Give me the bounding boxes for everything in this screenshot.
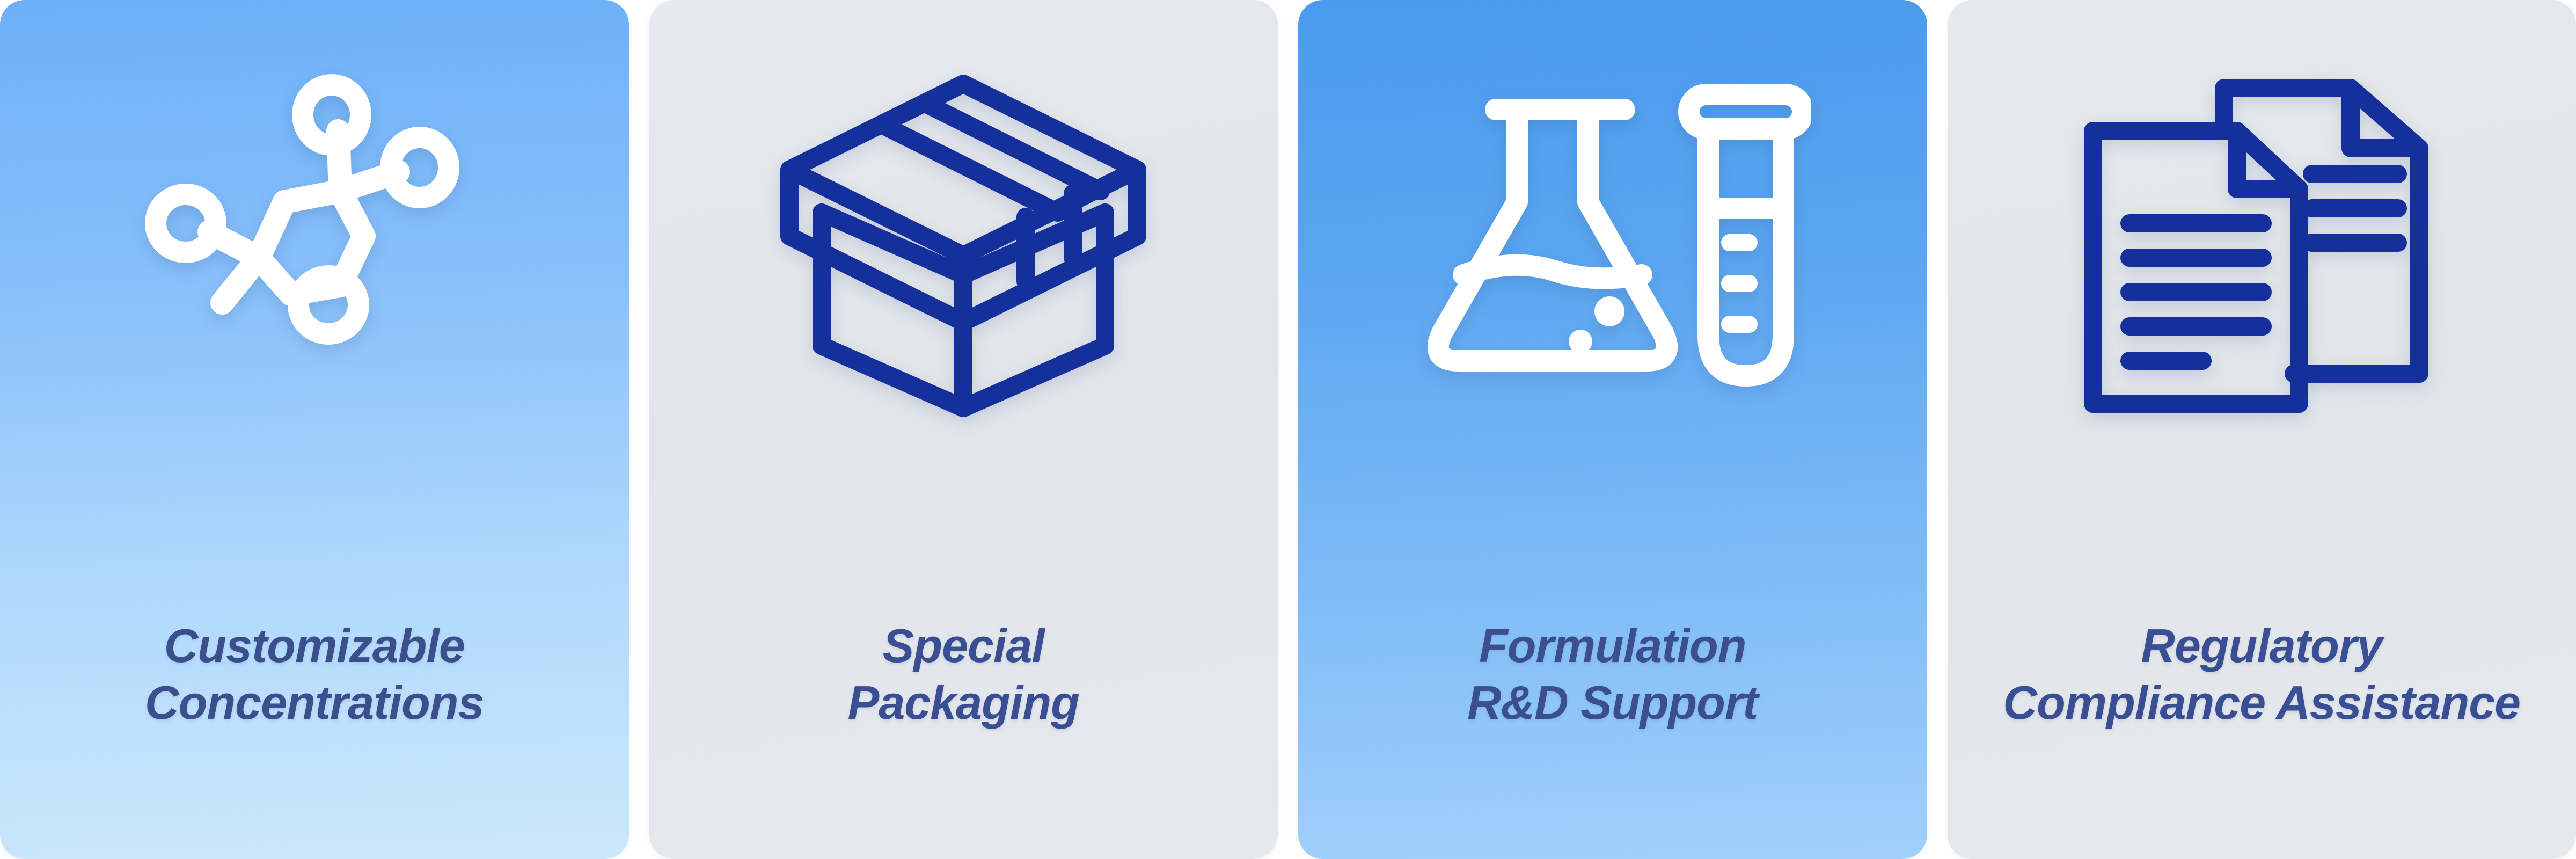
flask-test-tube-icon [1414,64,1811,419]
icon-container [0,0,629,472]
icon-container [649,0,1278,472]
package-box-icon [770,54,1157,429]
icon-container [1948,0,2576,472]
icon-container [1298,0,1927,472]
feature-card-regulatory-compliance-assistance[interactable]: Regulatory Compliance Assistance [1948,0,2576,859]
documents-icon [2074,64,2449,419]
card-label: Special Packaging [649,617,1278,731]
card-label: Customizable Concentrations [0,617,629,731]
molecule-icon [111,64,518,419]
feature-card-formulation-rd-support[interactable]: Formulation R&D Support [1298,0,1927,859]
feature-card-special-packaging[interactable]: Special Packaging [649,0,1278,859]
card-label: Regulatory Compliance Assistance [1948,617,2576,731]
card-label: Formulation R&D Support [1298,617,1927,731]
feature-card-customizable-concentrations[interactable]: Customizable Concentrations [0,0,629,859]
feature-cards-row: Customizable Concentrations [0,0,2576,859]
